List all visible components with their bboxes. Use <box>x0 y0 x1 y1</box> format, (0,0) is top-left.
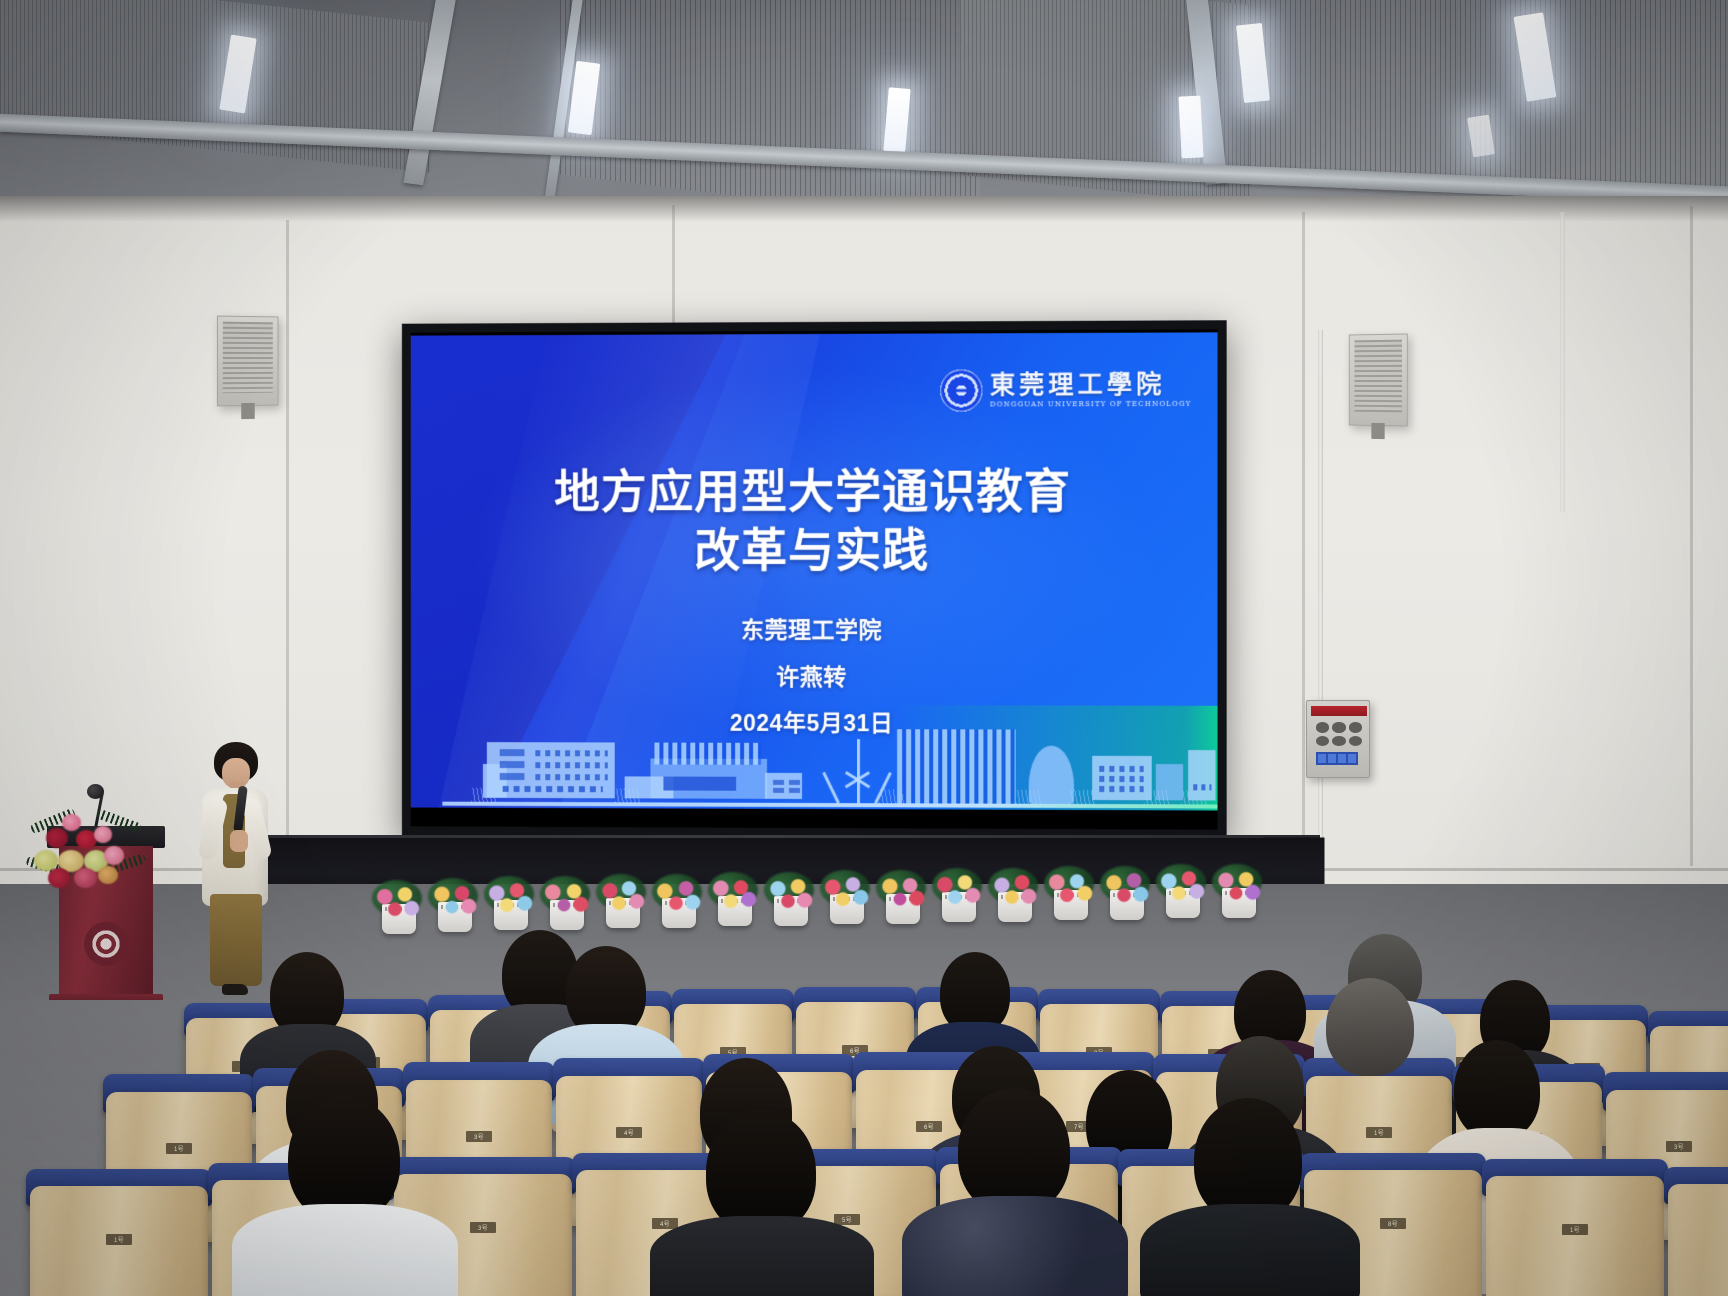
auditorium-scene: 東莞理工學院 DONGGUAN UNIVERSITY OF TECHNOLOGY… <box>0 0 1728 1296</box>
slide-presenter-name: 许燕转 <box>411 653 1218 701</box>
university-seal-icon <box>941 369 983 411</box>
fire-panel-buttons[interactable] <box>1316 722 1362 746</box>
seat-number-plate: 3号 <box>1666 1141 1692 1152</box>
wall-top-shadow <box>0 196 1728 222</box>
logo-text-block: 東莞理工學院 DONGGUAN UNIVERSITY OF TECHNOLOGY <box>990 371 1192 408</box>
slide-affiliation: 东莞理工学院 <box>411 607 1218 654</box>
seat-number-plate: 1号 <box>106 1234 132 1245</box>
seat-number-plate: 3号 <box>470 1222 496 1233</box>
podium-flower-arrangement <box>34 810 146 894</box>
seat[interactable]: 1号 <box>30 1186 208 1296</box>
presenter-skirt <box>210 894 262 986</box>
seat-number-plate: 8号 <box>1380 1218 1406 1229</box>
slide-content: 東莞理工學院 DONGGUAN UNIVERSITY OF TECHNOLOGY… <box>411 332 1218 810</box>
logo-english-name: DONGGUAN UNIVERSITY OF TECHNOLOGY <box>990 401 1192 409</box>
logo-chinese-name: 東莞理工學院 <box>990 371 1192 397</box>
ceiling <box>0 0 1728 215</box>
seat-number-plate: 5号 <box>834 1214 860 1225</box>
seat[interactable] <box>1668 1184 1728 1296</box>
seat[interactable]: 1号 <box>1486 1176 1664 1296</box>
wall-speaker-right <box>1349 334 1408 427</box>
slide-title-line-1: 地方应用型大学通识教育 <box>411 461 1218 521</box>
seat-number-plate: 1号 <box>1366 1127 1392 1138</box>
seat-number-plate: 3号 <box>466 1131 492 1142</box>
fire-panel-display <box>1316 752 1358 765</box>
wall-conduit <box>1318 330 1323 890</box>
presentation-screen[interactable]: 東莞理工學院 DONGGUAN UNIVERSITY OF TECHNOLOGY… <box>402 320 1227 839</box>
fire-panel-label-strip <box>1311 706 1367 716</box>
ceiling-light <box>1178 95 1203 158</box>
presenter-hands <box>230 830 248 852</box>
university-crest-icon <box>84 922 128 966</box>
wall-conduit-right <box>1560 212 1565 512</box>
podium-microphone <box>87 784 104 799</box>
fire-alarm-control-panel[interactable] <box>1306 700 1370 778</box>
campus-skyline-silhouette <box>411 704 1218 811</box>
slide-title: 地方应用型大学通识教育 改革与实践 <box>411 461 1218 580</box>
slide-title-line-2: 改革与实践 <box>411 521 1218 580</box>
presenter-shoe <box>222 984 248 995</box>
seat-number-plate: 6号 <box>916 1121 942 1132</box>
wall-speaker-left <box>217 316 279 407</box>
presenter-speaking <box>196 742 274 1004</box>
seat-number-plate: 1号 <box>1562 1224 1588 1235</box>
seat-number-plate: 4号 <box>616 1127 642 1138</box>
seat-number-plate: 1号 <box>166 1143 192 1154</box>
university-logo: 東莞理工學院 DONGGUAN UNIVERSITY OF TECHNOLOGY <box>941 368 1192 411</box>
seat-number-plate: 4号 <box>652 1218 678 1229</box>
